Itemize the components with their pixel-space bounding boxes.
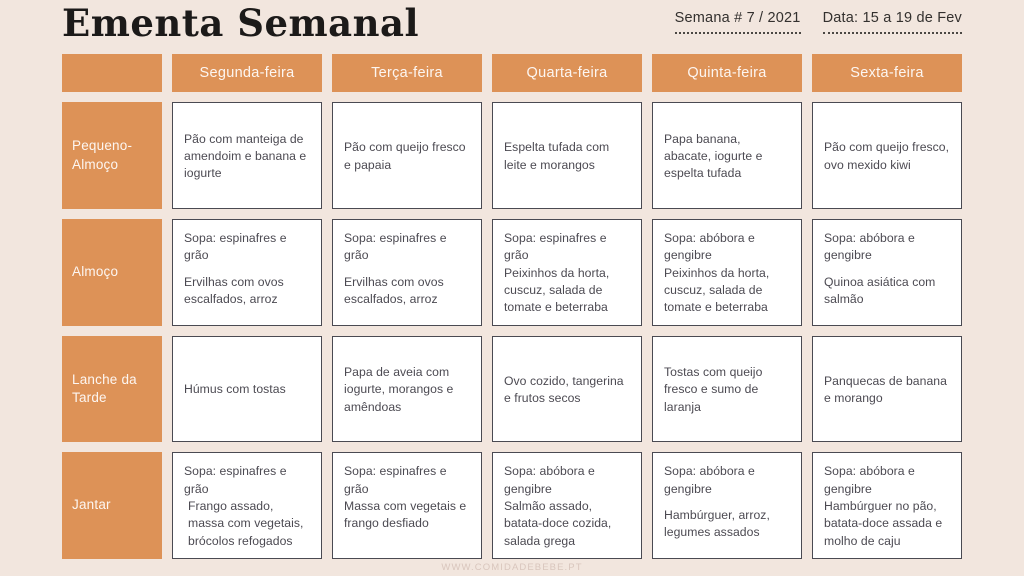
menu-cell-r2-c2: Sopa: espinafres e grãoErvilhas com ovos… [332, 219, 482, 326]
menu-item-text: Peixinhos da horta, cuscuz, salada de to… [504, 265, 630, 317]
menu-item-text: Massa com vegetais e frango desfiado [344, 498, 470, 533]
menu-cell-r2-c5: Sopa: abóbora e gengibreQuinoa asiática … [812, 219, 962, 326]
menu-item-text: Pão com manteiga de amendoim e banana e … [184, 131, 310, 183]
day-header-5: Sexta-feira [812, 54, 962, 92]
menu-cell-r3-c1: Húmus com tostas [172, 336, 322, 443]
menu-cell-r2-c1: Sopa: espinafres e grãoErvilhas com ovos… [172, 219, 322, 326]
menu-item-text: Papa banana, abacate, iogurte e espelta … [664, 131, 790, 183]
menu-item-text: Sopa: espinafres e grão [344, 463, 470, 498]
menu-item-text: Hambúrguer, arroz, legumes assados [664, 507, 790, 542]
week-label: Semana # 7 / 2021 [675, 11, 801, 34]
menu-item-text: Sopa: abóbora e gengibre [504, 463, 630, 498]
menu-item-text: Sopa: abóbora e gengibre [664, 463, 790, 498]
date-label: Data: 15 a 19 de Fev [823, 11, 962, 34]
menu-cell-r3-c4: Tostas com queijo fresco e sumo de laran… [652, 336, 802, 443]
day-header-4: Quinta-feira [652, 54, 802, 92]
page-footer: WWW.COMIDADEBEBE.PT [0, 559, 1024, 576]
menu-cell-r3-c2: Papa de aveia com iogurte, morangos e am… [332, 336, 482, 443]
menu-item-text: Sopa: espinafres e grão [184, 463, 310, 498]
menu-item-text: Ervilhas com ovos escalfados, arroz [344, 274, 470, 309]
menu-page: Ementa Semanal Semana # 7 / 2021 Data: 1… [0, 0, 1024, 576]
menu-cell-r4-c5: Sopa: abóbora e gengibreHambúrguer no pã… [812, 452, 962, 559]
menu-item-text: Sopa: espinafres e grão [504, 230, 630, 265]
menu-item-text: Salmão assado, batata-doce cozida, salad… [504, 498, 630, 550]
page-header: Ementa Semanal Semana # 7 / 2021 Data: 1… [0, 0, 1024, 54]
menu-item-text: Panquecas de banana e morango [824, 373, 950, 408]
menu-item-text: Sopa: abóbora e gengibre [824, 463, 950, 498]
menu-item-text: Frango assado, massa com vegetais, bróco… [184, 498, 310, 550]
menu-item-text: Ovo cozido, tangerina e frutos secos [504, 373, 630, 408]
day-header-3: Quarta-feira [492, 54, 642, 92]
menu-cell-r4-c4: Sopa: abóbora e gengibreHambúrguer, arro… [652, 452, 802, 559]
menu-item-text: Pão com queijo fresco e papaia [344, 139, 470, 174]
day-header-2: Terça-feira [332, 54, 482, 92]
day-header-1: Segunda-feira [172, 54, 322, 92]
menu-item-text: Pão com queijo fresco, ovo mexido kiwi [824, 139, 950, 174]
menu-grid: Segunda-feiraTerça-feiraQuarta-feiraQuin… [0, 54, 1024, 559]
meal-label-3: Lanche da Tarde [62, 336, 162, 443]
menu-item-text: Húmus com tostas [184, 381, 310, 398]
menu-cell-r1-c1: Pão com manteiga de amendoim e banana e … [172, 102, 322, 209]
header-meta-group: Semana # 7 / 2021 Data: 15 a 19 de Fev [675, 11, 962, 54]
menu-cell-r4-c1: Sopa: espinafres e grãoFrango assado, ma… [172, 452, 322, 559]
meal-label-2: Almoço [62, 219, 162, 326]
menu-cell-r1-c5: Pão com queijo fresco, ovo mexido kiwi [812, 102, 962, 209]
menu-item-text: Sopa: abóbora e gengibre [664, 230, 790, 265]
website-url: WWW.COMIDADEBEBE.PT [441, 562, 582, 573]
menu-cell-r3-c5: Panquecas de banana e morango [812, 336, 962, 443]
menu-item-text: Papa de aveia com iogurte, morangos e am… [344, 364, 470, 416]
menu-cell-r4-c2: Sopa: espinafres e grãoMassa com vegetai… [332, 452, 482, 559]
menu-cell-r1-c4: Papa banana, abacate, iogurte e espelta … [652, 102, 802, 209]
menu-cell-r2-c3: Sopa: espinafres e grãoPeixinhos da hort… [492, 219, 642, 326]
meal-label-4: Jantar [62, 452, 162, 559]
menu-cell-r1-c3: Espelta tufada com leite e morangos [492, 102, 642, 209]
menu-cell-r3-c3: Ovo cozido, tangerina e frutos secos [492, 336, 642, 443]
menu-cell-r2-c4: Sopa: abóbora e gengibrePeixinhos da hor… [652, 219, 802, 326]
page-title: Ementa Semanal [62, 5, 419, 54]
menu-item-text: Tostas com queijo fresco e sumo de laran… [664, 364, 790, 416]
menu-item-text: Ervilhas com ovos escalfados, arroz [184, 274, 310, 309]
menu-item-text: Espelta tufada com leite e morangos [504, 139, 630, 174]
menu-item-text: Sopa: abóbora e gengibre [824, 230, 950, 265]
menu-item-text: Quinoa asiática com salmão [824, 274, 950, 309]
grid-corner-cell [62, 54, 162, 92]
meal-label-1: Pequeno-Almoço [62, 102, 162, 209]
menu-item-text: Sopa: espinafres e grão [184, 230, 310, 265]
menu-cell-r1-c2: Pão com queijo fresco e papaia [332, 102, 482, 209]
menu-item-text: Sopa: espinafres e grão [344, 230, 470, 265]
menu-item-text: Hambúrguer no pão, batata-doce assada e … [824, 498, 950, 550]
menu-cell-r4-c3: Sopa: abóbora e gengibreSalmão assado, b… [492, 452, 642, 559]
menu-item-text: Peixinhos da horta, cuscuz, salada de to… [664, 265, 790, 317]
